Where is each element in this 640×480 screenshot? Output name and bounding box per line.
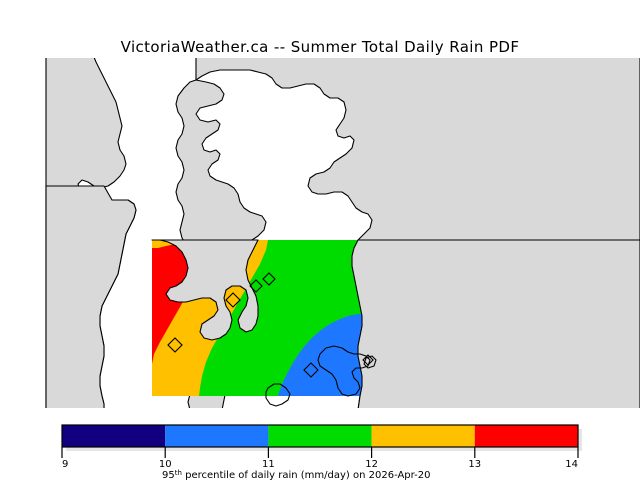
colorbar-band-11-12[interactable] (268, 425, 371, 447)
colorbar-figure[interactable]: 9 10 11 12 13 14 95th percentile of dail… (0, 418, 640, 480)
map-figure[interactable] (0, 58, 640, 408)
page-title: VictoriaWeather.ca -- Summer Total Daily… (0, 38, 640, 56)
colorbar-bands[interactable] (62, 425, 578, 447)
colorbar-tick-label-0: 9 (62, 459, 68, 470)
colorbar-tick-label-1: 10 (159, 459, 172, 470)
colorbar-tick-label-4: 13 (468, 459, 481, 470)
map-panel[interactable] (0, 58, 640, 408)
colorbar-caption-superscript: th (175, 469, 182, 477)
colorbar-tick-label-3: 12 (365, 459, 378, 470)
colorbar-tick-label-5: 14 (565, 459, 578, 470)
colorbar-band-13-14[interactable] (475, 425, 578, 447)
colorbar-band-12-13[interactable] (372, 425, 475, 447)
colorbar-band-9-10[interactable] (62, 425, 165, 447)
colorbar-panel[interactable]: 9 10 11 12 13 14 95th percentile of dail… (0, 418, 640, 480)
colorbar-caption-rest: percentile of daily rain (mm/day) on 202… (182, 470, 431, 480)
colorbar-caption: 95th percentile of daily rain (mm/day) o… (162, 469, 430, 480)
colorbar-caption-prefix: 95 (162, 470, 175, 480)
colorbar-tick-label-2: 11 (262, 459, 275, 470)
landmass-east-overlay (352, 240, 640, 408)
colorbar-band-10-11[interactable] (165, 425, 268, 447)
weather-map-page: VictoriaWeather.ca -- Summer Total Daily… (0, 0, 640, 480)
